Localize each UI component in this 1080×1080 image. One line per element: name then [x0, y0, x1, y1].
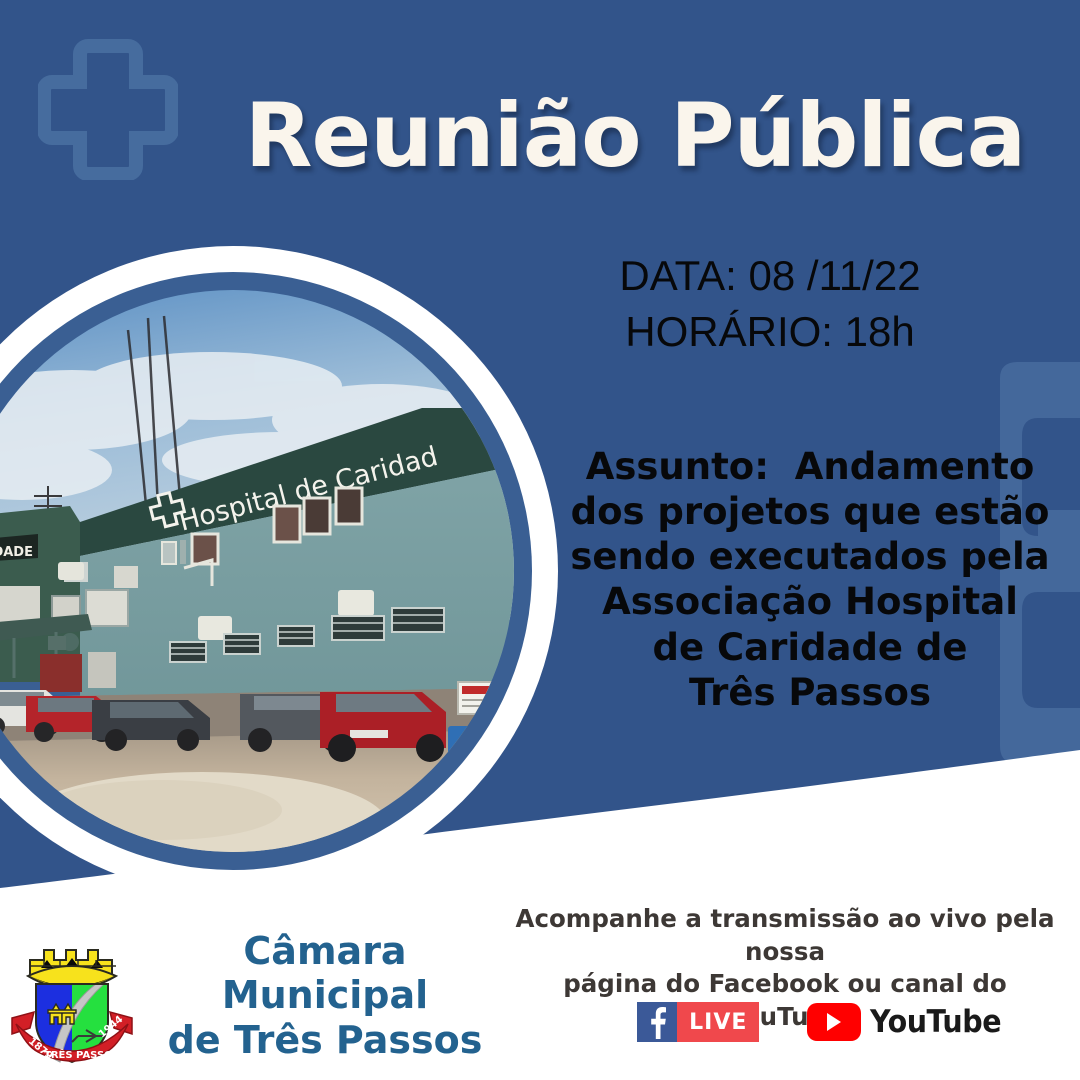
- facebook-live-label: LIVE: [677, 1002, 759, 1042]
- social-badges: LIVE YouTube: [660, 998, 990, 1046]
- svg-text:CARIDADE: CARIDADE: [0, 545, 33, 560]
- council-name-line2: de Três Passos: [150, 1018, 500, 1062]
- council-name: Câmara Municipal de Três Passos: [150, 929, 500, 1061]
- poster-canvas: Reunião Pública DATA: 08 /11/22 HORÁRIO:…: [0, 0, 1080, 1080]
- page-title: Reunião Pública: [0, 92, 1080, 180]
- photo-illustration: CARIDADE Hospital de Caridad: [0, 290, 514, 852]
- play-triangle-icon: [825, 1012, 843, 1032]
- youtube-play-icon: [807, 1003, 861, 1041]
- meeting-time: HORÁRIO: 18h: [520, 304, 1020, 360]
- facebook-f-glyph: [646, 1005, 668, 1039]
- council-name-line1: Câmara Municipal: [150, 929, 500, 1017]
- crest-city: TRÊS PASSOS: [44, 1048, 120, 1061]
- council-branding: 1879 TRÊS PASSOS 1944 Câmara Municipal d…: [8, 918, 508, 1073]
- meeting-datetime: DATA: 08 /11/22 HORÁRIO: 18h: [520, 248, 1020, 360]
- subject-line: Assunto: Andamento: [555, 444, 1065, 489]
- broadcast-note-line1: Acompanhe a transmissão ao vivo pela nos…: [505, 903, 1065, 968]
- facebook-icon: [637, 1002, 677, 1042]
- youtube-badge[interactable]: YouTube: [807, 1002, 1013, 1042]
- subject-line: sendo executados pela: [555, 534, 1065, 579]
- youtube-label: YouTube: [870, 1004, 1001, 1040]
- facebook-live-badge[interactable]: LIVE: [637, 1002, 759, 1042]
- city-coat-of-arms-icon: 1879 TRÊS PASSOS 1944: [8, 926, 136, 1066]
- subject-line: dos projetos que estão: [555, 489, 1065, 534]
- subject-line: Associação Hospital: [555, 579, 1065, 624]
- hospital-photo: CARIDADE Hospital de Caridad: [0, 246, 558, 896]
- meeting-date: DATA: 08 /11/22: [520, 248, 1020, 304]
- photo-clip: CARIDADE Hospital de Caridad: [0, 290, 514, 852]
